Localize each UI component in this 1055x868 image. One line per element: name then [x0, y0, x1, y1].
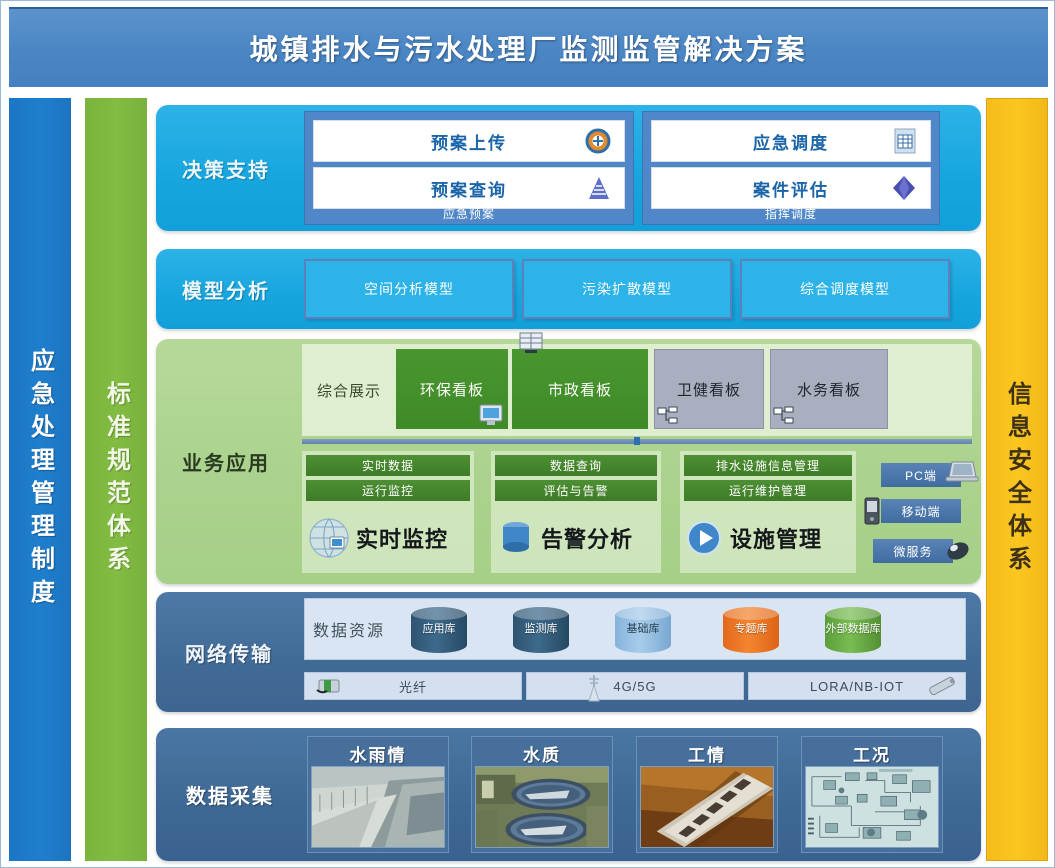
sidebar-standard-specification-system: 标准规范体系 [85, 98, 147, 861]
decision-item-plan-upload-label: 预案上传 [431, 129, 507, 154]
decision-item-emergency-dispatch-label: 应急调度 [753, 129, 829, 154]
business-column-facility: 排水设施信息管理 运行维护管理 设施管理 [680, 451, 856, 573]
pyramid-icon [586, 175, 612, 201]
data-source-operating-condition-label: 工况 [805, 740, 939, 766]
lifebuoy-icon [584, 127, 612, 155]
decision-group-emergency-plan-caption: 应急预案 [305, 205, 633, 222]
data-source-water-quality-label: 水质 [475, 740, 609, 766]
board-municipal[interactable]: 市政看板 [512, 349, 648, 429]
business-feature-realtime-monitoring-label: 实时监控 [356, 522, 448, 554]
sensor-icon [925, 674, 959, 698]
biz-tag-operation-maintenance[interactable]: 运行维护管理 [684, 480, 852, 501]
row-model-analysis: 模型分析 空间分析模型 污染扩散模型 综合调度模型 [156, 249, 981, 329]
biz-tag-drainage-facility-info[interactable]: 排水设施信息管理 [684, 455, 852, 476]
network-link-lora[interactable]: LORA/NB-IOT [748, 672, 966, 700]
mouse-icon [943, 537, 973, 563]
database-thematic[interactable]: 专题库 [723, 607, 779, 653]
business-column-realtime: 实时数据 运行监控 实时监控 [302, 451, 474, 573]
row-decision-support: 决策支持 预案上传 预案查询 [156, 105, 981, 231]
monitor-icon [478, 403, 504, 427]
database-icon [495, 515, 537, 561]
diamond-icon [890, 174, 918, 202]
row-data-collection-label: 数据采集 [156, 728, 304, 861]
device-chip-mobile[interactable]: 移动端 [881, 499, 961, 523]
data-source-water-quality[interactable]: 水质 [471, 736, 613, 853]
database-application[interactable]: 应用库 [411, 607, 467, 653]
data-source-project-status[interactable]: 工情 [636, 736, 778, 853]
data-resources-strip: 数据资源 应用库 监测库 基础库 专题库 外部数据库 [304, 598, 966, 660]
decision-item-plan-query-label: 预案查询 [431, 176, 507, 201]
business-feature-facility-management[interactable]: 设施管理 [684, 507, 852, 569]
network-link-cellular-label: 4G/5G [613, 679, 656, 694]
database-foundation[interactable]: 基础库 [615, 607, 671, 653]
biz-tag-assessment-alarm[interactable]: 评估与告警 [495, 480, 657, 501]
sidebar-emergency-management-system: 应急处理管理制度 [9, 98, 71, 861]
sedimentation-tanks-photo [475, 766, 609, 848]
comprehensive-display-strip: 综合展示 环保看板 市政看板 [302, 344, 972, 436]
row-model-analysis-label: 模型分析 [156, 249, 296, 329]
model-item-spatial-analysis[interactable]: 空间分析模型 [304, 259, 514, 319]
network-link-lora-label: LORA/NB-IOT [810, 679, 904, 694]
board-environment[interactable]: 环保看板 [396, 349, 508, 429]
architecture-diagram: 城镇排水与污水处理厂监测监管解决方案 应急处理管理制度 标准规范体系 信息安全体… [0, 0, 1055, 868]
scada-schematic-photo [805, 766, 939, 848]
sidebar-information-security-system: 信息安全体系 [986, 98, 1048, 861]
business-feature-alarm-analysis[interactable]: 告警分析 [495, 507, 657, 569]
board-municipal-label: 市政看板 [548, 379, 612, 400]
fiber-optic-icon [315, 675, 345, 697]
pipeline-trench-photo [640, 766, 774, 848]
row-business-application: 业务应用 综合展示 环保看板 市政看板 [156, 339, 981, 584]
data-source-rainfall[interactable]: 水雨情 [307, 736, 449, 853]
network-link-fiber[interactable]: 光纤 [304, 672, 522, 700]
sidebar-standard-label: 标准规范体系 [99, 381, 134, 579]
decision-group-command-dispatch: 应急调度 案件评估 指挥调度 [642, 111, 940, 225]
board-health-label: 卫健看板 [677, 379, 741, 400]
biz-tag-data-query[interactable]: 数据查询 [495, 455, 657, 476]
network-icon [773, 406, 795, 426]
decision-item-case-assessment-label: 案件评估 [753, 176, 829, 201]
device-chip-pc-label: PC端 [905, 467, 937, 484]
model-item-integrated-dispatch[interactable]: 综合调度模型 [740, 259, 950, 319]
business-feature-facility-management-label: 设施管理 [730, 522, 822, 554]
decision-item-plan-upload[interactable]: 预案上传 [313, 120, 625, 162]
business-feature-alarm-analysis-label: 告警分析 [541, 522, 633, 554]
data-source-rainfall-label: 水雨情 [311, 740, 445, 766]
device-chip-pc[interactable]: PC端 [881, 463, 961, 487]
network-link-fiber-label: 光纤 [399, 677, 427, 696]
globe-icon [306, 515, 352, 561]
biz-tag-realtime-data[interactable]: 实时数据 [306, 455, 470, 476]
comprehensive-display-label: 综合展示 [310, 344, 388, 436]
business-section-divider [302, 439, 972, 444]
grid-table-icon [892, 127, 918, 155]
diagram-title-bar: 城镇排水与污水处理厂监测监管解决方案 [9, 7, 1048, 87]
business-feature-realtime-monitoring[interactable]: 实时监控 [306, 507, 470, 569]
network-icon [657, 406, 679, 426]
business-column-query: 数据查询 评估与告警 告警分析 [491, 451, 661, 573]
data-source-project-status-label: 工情 [640, 740, 774, 766]
model-item-pollution-diffusion[interactable]: 污染扩散模型 [522, 259, 732, 319]
canal-embankment-photo [311, 766, 445, 848]
decision-group-command-dispatch-caption: 指挥调度 [643, 205, 939, 222]
network-link-cellular[interactable]: 4G/5G [526, 672, 744, 700]
antenna-icon [583, 671, 605, 703]
row-decision-support-label: 决策支持 [156, 105, 296, 231]
sidebar-emergency-label: 应急处理管理制度 [23, 348, 58, 612]
board-environment-label: 环保看板 [420, 379, 484, 400]
play-icon [684, 516, 726, 560]
decision-group-emergency-plan: 预案上传 预案查询 [304, 111, 634, 225]
device-chip-microservice-label: 微服务 [893, 543, 932, 560]
board-water-affairs[interactable]: 水务看板 [770, 349, 888, 429]
board-water-affairs-label: 水务看板 [797, 379, 861, 400]
laptop-icon [945, 459, 979, 485]
mobile-phone-icon [863, 497, 881, 525]
board-health[interactable]: 卫健看板 [654, 349, 764, 429]
row-business-application-label: 业务应用 [156, 339, 296, 584]
sidebar-security-label: 信息安全体系 [1000, 381, 1035, 579]
device-chip-microservice[interactable]: 微服务 [873, 539, 953, 563]
database-external[interactable]: 外部数据库 [825, 607, 881, 653]
divider-marker [634, 437, 640, 445]
biz-tag-operation-monitoring[interactable]: 运行监控 [306, 480, 470, 501]
data-resources-label: 数据资源 [313, 617, 385, 641]
database-monitoring[interactable]: 监测库 [513, 607, 569, 653]
row-network-transmission: 网络传输 数据资源 应用库 监测库 基础库 专题库 外部数据库 光纤 [156, 592, 981, 712]
decision-item-case-assessment[interactable]: 案件评估 [651, 167, 931, 209]
device-chip-mobile-label: 移动端 [901, 503, 940, 520]
decision-item-emergency-dispatch[interactable]: 应急调度 [651, 120, 931, 162]
row-network-transmission-label: 网络传输 [156, 592, 302, 712]
row-data-collection: 数据采集 水雨情 水质 [156, 728, 981, 861]
page-title: 城镇排水与污水处理厂监测监管解决方案 [249, 28, 807, 68]
decision-item-plan-query[interactable]: 预案查询 [313, 167, 625, 209]
data-source-operating-condition[interactable]: 工况 [801, 736, 943, 853]
window-icon [518, 331, 544, 355]
